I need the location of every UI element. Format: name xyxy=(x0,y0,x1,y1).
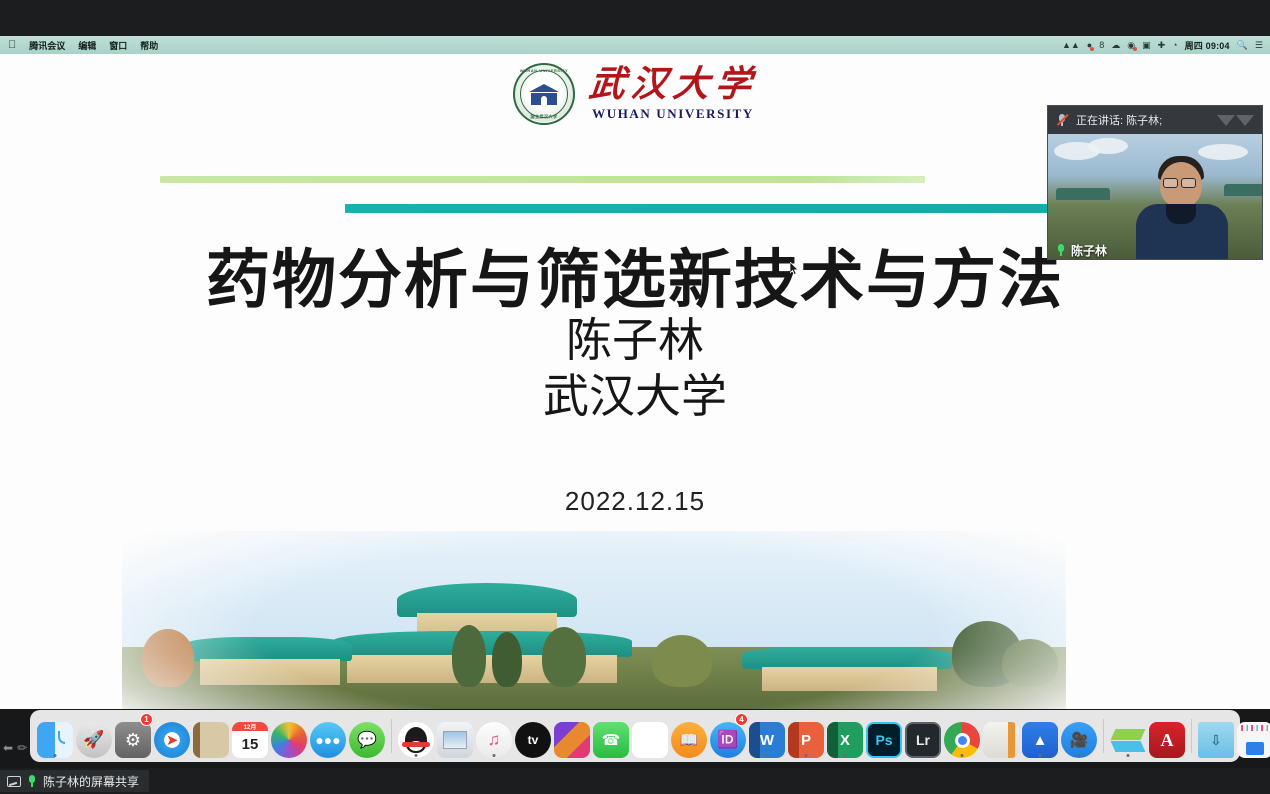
dock-item-messages[interactable]: ●●● xyxy=(309,714,347,758)
vpn-icon[interactable]: ▲▲ xyxy=(1062,41,1080,50)
pencil-icon[interactable]: ✏ xyxy=(17,742,27,754)
dock-item-wechat-video[interactable]: ☎ xyxy=(592,714,630,758)
glasses-right xyxy=(1181,178,1196,188)
dock-item-app-store[interactable]: 4 🆔 xyxy=(709,714,747,758)
dock-item-downloads-folder[interactable]: ⇩ xyxy=(1197,714,1235,758)
calendar-month: 12月 xyxy=(232,722,268,731)
dock-item-preview[interactable] xyxy=(436,714,474,758)
excel-label: X xyxy=(827,722,863,758)
dock-item-excel[interactable]: X xyxy=(826,714,864,758)
campus-photo xyxy=(122,531,1066,709)
control-center-icon[interactable]: ☰ xyxy=(1255,41,1263,50)
glasses-left xyxy=(1163,178,1178,188)
video-name-overlay: 陈子林 xyxy=(1048,239,1262,260)
dock-item-lightroom[interactable]: Lr xyxy=(904,714,942,758)
dock-item-snipaste[interactable] xyxy=(1109,714,1147,758)
dock-item-books[interactable]: 📖 xyxy=(670,714,708,758)
menu-item-app[interactable]: 腾讯会议 xyxy=(29,39,65,52)
screen-share-indicator[interactable]: 陈子林的屏幕共享 xyxy=(0,770,149,792)
dock-separator-3 xyxy=(1191,719,1192,753)
dock-item-chrome[interactable] xyxy=(943,714,981,758)
dock-item-apple-tv[interactable]: tv xyxy=(514,714,552,758)
menu-item-window[interactable]: 窗口 xyxy=(109,39,127,52)
wifi-icon[interactable]: ◔ xyxy=(1172,41,1177,50)
university-seal-icon: WUHAN UNIVERSITY 国立武汉大学 xyxy=(513,63,575,125)
photoshop-label: Ps xyxy=(866,722,902,758)
dropbox-icon[interactable]: ● xyxy=(1087,41,1092,50)
participant-video-panel[interactable]: 正在讲话: 陈子林; 陈子林 xyxy=(1047,105,1263,260)
screen-share-window:  腾讯会议 编辑 窗口 帮助 ▲▲ ● 8 ☁ ◉ ▣ ✚ ◔ 周四 09:0… xyxy=(0,0,1270,794)
speaking-label: 正在讲话: 陈子林; xyxy=(1076,112,1209,128)
system-preferences-badge: 1 xyxy=(140,713,153,726)
word-label: W xyxy=(749,722,785,758)
mic-on-icon xyxy=(1055,244,1066,257)
dock-separator-1 xyxy=(391,719,392,753)
dock-item-photo-booth[interactable] xyxy=(631,714,669,758)
menu-bar-status-area: ▲▲ ● 8 ☁ ◉ ▣ ✚ ◔ 周四 09:04 🔍 ☰ xyxy=(1062,39,1270,52)
seal-gate-glyph xyxy=(529,84,559,105)
top-black-bar xyxy=(0,0,1270,36)
dock-item-wechat[interactable]: 💬 xyxy=(348,714,386,758)
apple-tv-label: tv xyxy=(515,722,551,758)
menu-bar-left:  腾讯会议 编辑 窗口 帮助 xyxy=(0,39,158,52)
logo-chinese-name: 武汉大学 xyxy=(587,66,759,104)
dock-item-photoshop[interactable]: Ps xyxy=(865,714,903,758)
screen-share-text: 陈子林的屏幕共享 xyxy=(43,773,139,790)
dock-item-calendar[interactable]: 12月 15 xyxy=(231,714,269,758)
mic-on-icon xyxy=(27,775,37,788)
seal-bottom-text: 国立武汉大学 xyxy=(515,114,573,120)
dock-item-notes[interactable] xyxy=(192,714,230,758)
dock-item-powerpoint[interactable]: P xyxy=(787,714,825,758)
mac-dock[interactable]: 🚀 1 ⚙ ➤ 12月 15 ●●● 💬 xyxy=(30,710,1240,762)
dock-item-mountain-app[interactable]: ▲ xyxy=(1021,714,1059,758)
logo-wordmark: 武汉大学 WUHAN UNIVERSITY xyxy=(589,66,757,122)
dock-item-qq[interactable] xyxy=(397,714,435,758)
dock-item-photos[interactable] xyxy=(270,714,308,758)
slide-date: 2022.12.15 xyxy=(0,486,1270,517)
video-panel-header: 正在讲话: 陈子林; xyxy=(1048,106,1262,134)
seal-top-text: WUHAN UNIVERSITY xyxy=(515,68,573,73)
person-collar xyxy=(1166,204,1196,224)
dock-item-finder[interactable] xyxy=(36,714,74,758)
dock-item-word[interactable]: W xyxy=(748,714,786,758)
sync-icon[interactable]: ◉ xyxy=(1127,41,1135,50)
mouse-cursor xyxy=(790,262,799,275)
menu-bar-clock[interactable]: 周四 09:04 xyxy=(1185,39,1230,52)
dock-item-stickies[interactable] xyxy=(982,714,1020,758)
dock-item-media-player[interactable] xyxy=(553,714,591,758)
slide-affiliation: 武汉大学 xyxy=(0,360,1270,426)
mic-muted-icon[interactable] xyxy=(1056,113,1068,127)
apple-logo-icon[interactable]:  xyxy=(8,40,16,51)
dock-item-music[interactable]: ♫ xyxy=(475,714,513,758)
app-store-badge: 4 xyxy=(735,713,748,726)
menu-item-help[interactable]: 帮助 xyxy=(140,39,158,52)
dock-item-system-preferences[interactable]: 1 ⚙ xyxy=(114,714,152,758)
decorative-line-teal xyxy=(345,204,1115,213)
battery-level: 8 xyxy=(1099,41,1104,50)
participant-name: 陈子林 xyxy=(1071,242,1107,259)
network-icon[interactable]: ☁ xyxy=(1111,41,1120,50)
mac-menu-bar:  腾讯会议 编辑 窗口 帮助 ▲▲ ● 8 ☁ ◉ ▣ ✚ ◔ 周四 09:0… xyxy=(0,36,1270,54)
bottom-status-bar xyxy=(0,768,1270,794)
lightroom-label: Lr xyxy=(905,722,941,758)
search-icon[interactable]: 🔍 xyxy=(1237,41,1248,50)
dock-item-adobe-acrobat[interactable]: A xyxy=(1148,714,1186,758)
screen-share-icon xyxy=(7,776,21,787)
decorative-line-green xyxy=(160,176,925,183)
dock-item-launchpad[interactable]: 🚀 xyxy=(75,714,113,758)
collapse-chevrons-icon[interactable] xyxy=(1217,115,1254,126)
dock-item-safari[interactable]: ➤ xyxy=(153,714,191,758)
video-feed: 陈子林 xyxy=(1048,134,1262,260)
powerpoint-label: P xyxy=(788,722,824,758)
display-icon[interactable]: ▣ xyxy=(1142,41,1151,50)
back-arrow-icon[interactable]: ⬅ xyxy=(3,742,13,754)
menu-item-edit[interactable]: 编辑 xyxy=(78,39,96,52)
dock-item-tencent-meeting[interactable]: 🎥 xyxy=(1060,714,1098,758)
dock-separator-2 xyxy=(1103,719,1104,753)
calendar-day: 15 xyxy=(242,731,259,758)
bluetooth-icon[interactable]: ✚ xyxy=(1158,41,1166,50)
dock-item-documents-stack[interactable] xyxy=(1236,714,1270,758)
logo-english-name: WUHAN UNIVERSITY xyxy=(592,106,754,122)
